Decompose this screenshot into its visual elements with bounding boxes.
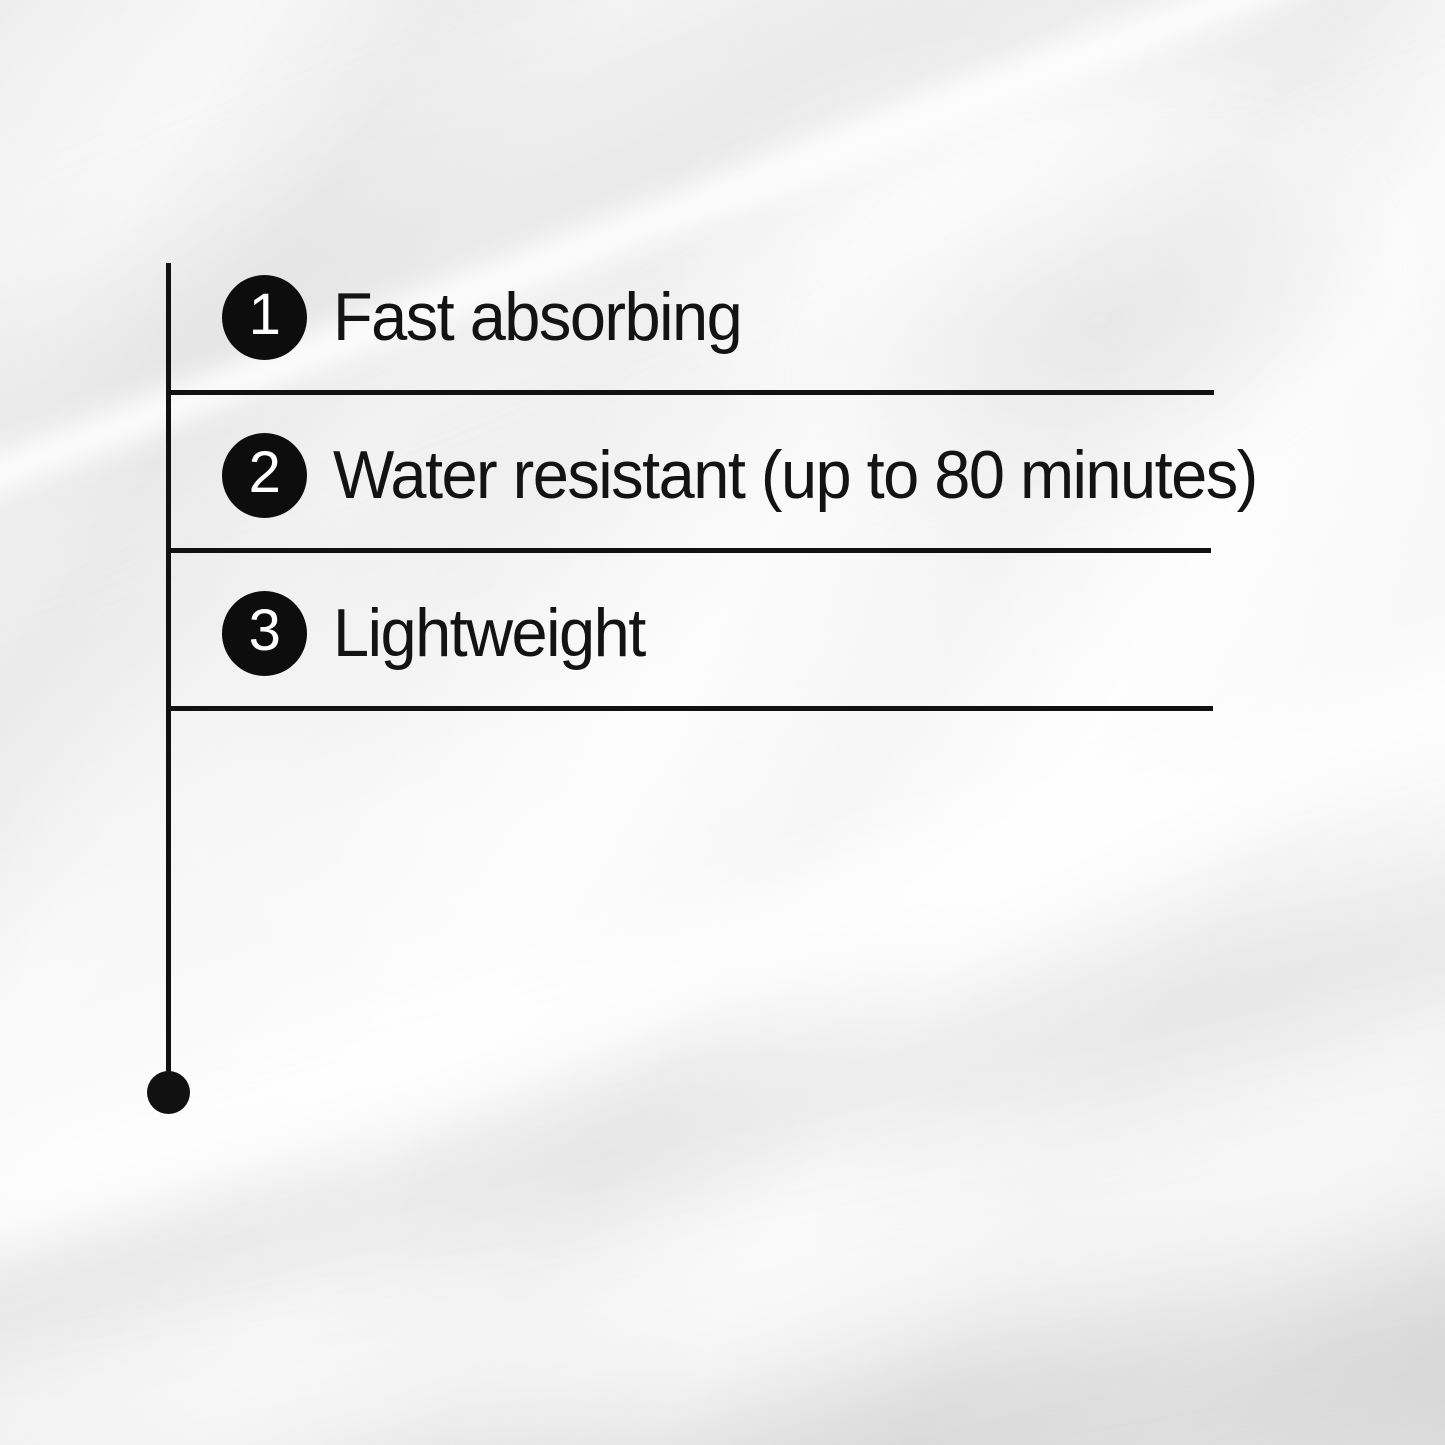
end-dot-marker	[147, 1071, 190, 1114]
benefits-list: 1 Fast absorbing 2 Water resistant (up t…	[0, 0, 1445, 1445]
benefit-label-1: Fast absorbing	[333, 283, 741, 351]
divider-rule-3	[168, 706, 1213, 711]
benefit-number-badge-1: 1	[222, 275, 307, 360]
product-benefits-graphic: 1 Fast absorbing 2 Water resistant (up t…	[0, 0, 1445, 1445]
divider-rule-2	[168, 548, 1211, 553]
divider-rule-1	[168, 390, 1214, 395]
benefit-number-badge-2: 2	[222, 433, 307, 518]
benefit-number-badge-3: 3	[222, 591, 307, 676]
benefit-row-2: 2 Water resistant (up to 80 minutes)	[222, 427, 1300, 523]
benefit-label-3: Lightweight	[333, 599, 645, 667]
benefit-label-2: Water resistant (up to 80 minutes)	[333, 441, 1257, 509]
benefit-row-3: 3 Lightweight	[222, 585, 659, 681]
benefit-row-1: 1 Fast absorbing	[222, 269, 760, 365]
vertical-rule	[166, 263, 171, 1075]
